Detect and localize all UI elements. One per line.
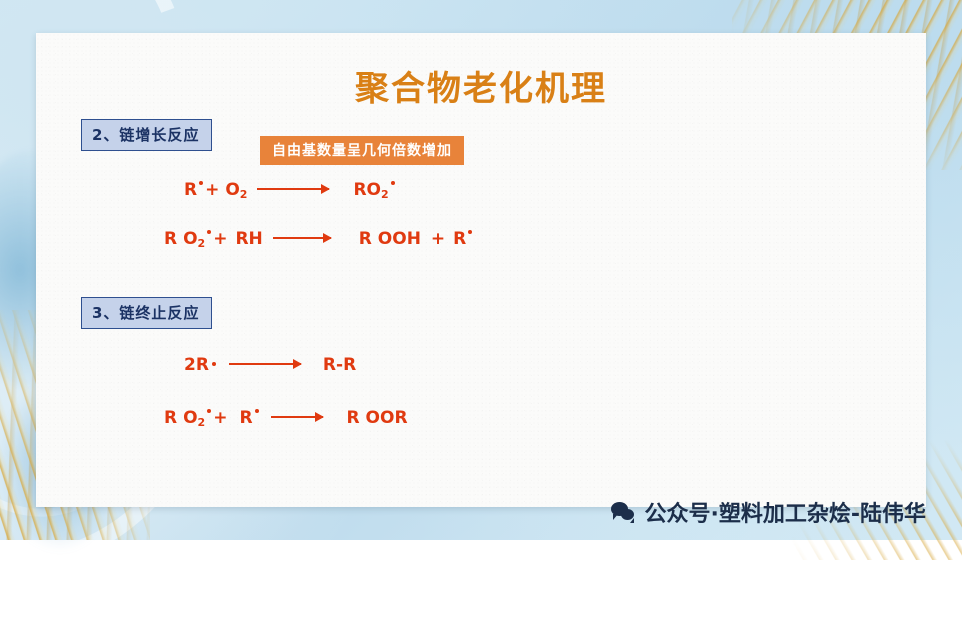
reaction-arrow-icon [257,188,329,190]
eq4-o-subscript: 2 [198,416,206,429]
eq2-radical: R [453,229,466,249]
footer-credit: 公众号·塑料加工杂烩-陆伟华 [0,496,962,528]
equation-chain-termination-2: R O 2 + R R OOR [164,408,408,428]
eq2-o-subscript: 2 [198,237,206,250]
eq2-r: R [164,229,177,249]
radical-dot-icon [207,409,211,413]
eq3-left: 2R [184,355,209,375]
eq1-product-subscript: 2 [381,188,389,201]
reaction-arrow-icon [229,363,301,365]
equation-chain-growth-2: R O 2 + RH R OOH + R [164,229,474,249]
callout-free-radical-growth: 自由基数量呈几何倍数增加 [260,136,464,165]
eq4-product: R OOR [347,408,408,428]
wechat-icon [611,502,635,522]
equation-chain-growth-1: R + O 2 RO 2 [184,180,397,200]
equation-chain-termination-1: 2R R-R [184,355,356,375]
eq2-rh: RH [235,229,262,249]
section-tag-chain-termination: 3、链终止反应 [81,297,212,329]
eq4-r2: R [239,408,252,428]
radical-dot-icon [207,230,211,234]
eq2-plus-2: + [431,229,445,249]
slide-canvas: 聚合物老化机理 2、链增长反应 自由基数量呈几何倍数增加 R + O 2 RO … [0,0,962,540]
eq2-product: R OOH [359,229,421,249]
radical-dot-icon [199,181,203,185]
eq4-plus: + [213,408,227,428]
eq2-plus-1: + [213,229,227,249]
radical-dot-icon [391,181,395,185]
radical-dot-icon [212,362,216,366]
reaction-arrow-icon [273,237,331,239]
eq1-o: O [225,180,239,200]
eq4-o: O [183,408,197,428]
radical-dot-icon [468,230,472,234]
eq1-o-subscript: 2 [240,188,248,201]
slide-content-card: 聚合物老化机理 2、链增长反应 自由基数量呈几何倍数增加 R + O 2 RO … [36,33,926,507]
eq4-r: R [164,408,177,428]
reaction-arrow-icon [271,416,323,418]
eq1-product: RO [353,180,381,200]
eq1-left-r: R [184,180,197,200]
eq1-plus: + [205,180,219,200]
eq3-product: R-R [323,355,356,375]
eq2-o: O [183,229,197,249]
page-title: 聚合物老化机理 [36,61,926,110]
radical-dot-icon [255,409,259,413]
footer-text: 公众号·塑料加工杂烩-陆伟华 [645,496,927,528]
section-tag-chain-growth: 2、链增长反应 [81,119,212,151]
